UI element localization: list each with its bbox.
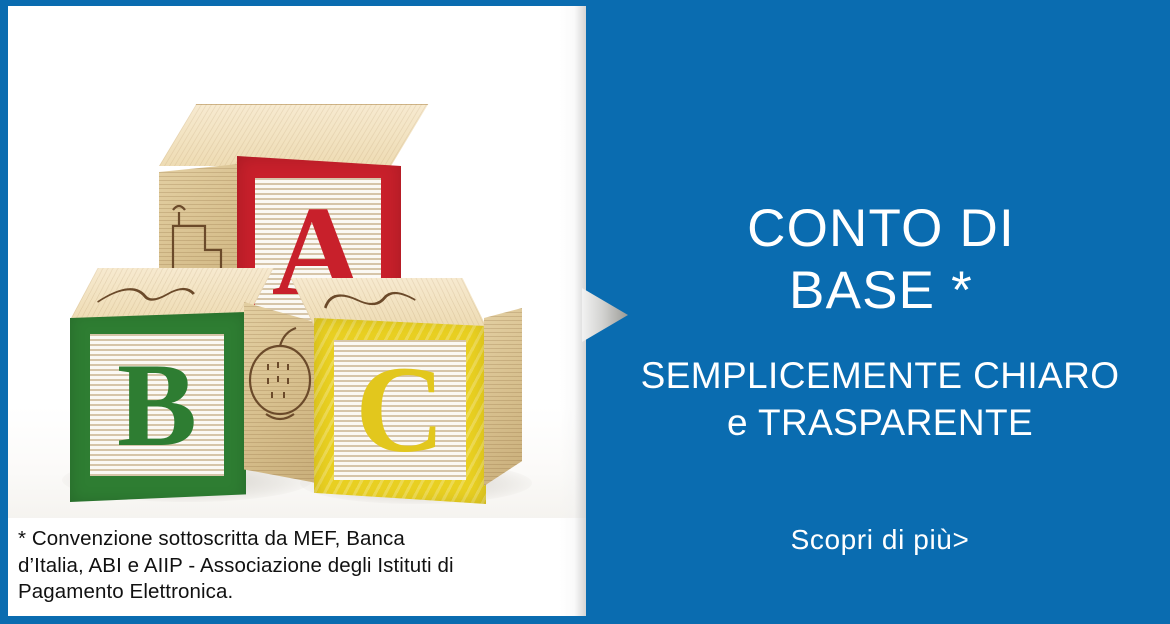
triangle-right-icon bbox=[582, 288, 628, 342]
subtitle-line-1: SEMPLICEMENTE CHIARO bbox=[641, 355, 1120, 396]
block-c-right-face bbox=[484, 308, 522, 486]
promo-banner: A B bbox=[0, 0, 1170, 624]
content-panel: CONTO DI BASE * SEMPLICEMENTE CHIARO e T… bbox=[586, 0, 1170, 624]
wooden-abc-blocks-photo: A B bbox=[8, 6, 586, 526]
footnote-text: * Convenzione sottoscritta da MEF, Banca… bbox=[8, 518, 586, 616]
wooden-block-c: C bbox=[308, 278, 520, 494]
block-letter: C bbox=[334, 340, 466, 480]
footnote-line-1: * Convenzione sottoscritta da MEF, Banca bbox=[18, 526, 572, 553]
block-letter: B bbox=[90, 334, 224, 476]
page-title: CONTO DI BASE * bbox=[586, 198, 1170, 323]
subtitle: SEMPLICEMENTE CHIARO e TRASPARENTE bbox=[586, 352, 1170, 447]
subtitle-line-2: e TRASPARENTE bbox=[590, 399, 1170, 446]
footnote-line-3: Pagamento Elettronica. bbox=[18, 579, 572, 606]
image-panel: A B bbox=[0, 0, 586, 624]
block-b-letter-inset: B bbox=[90, 334, 224, 476]
block-a-top-face bbox=[159, 104, 428, 166]
footnote-line-2: d’Italia, ABI e AIIP - Associazione degl… bbox=[18, 553, 572, 580]
wooden-block-b: B bbox=[66, 268, 282, 490]
image-panel-inner: A B bbox=[8, 6, 586, 616]
discover-more-link[interactable]: Scopri di più> bbox=[586, 524, 1170, 556]
block-c-letter-inset: C bbox=[334, 340, 466, 480]
